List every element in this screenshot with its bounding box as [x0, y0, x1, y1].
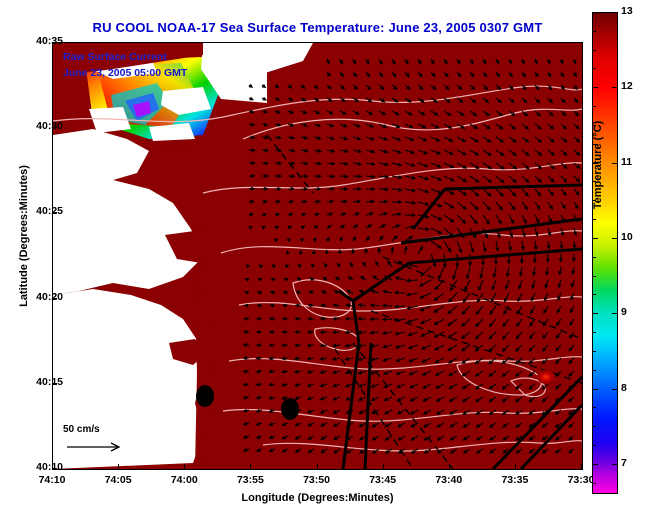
x-tick-label: 73:55	[220, 474, 280, 486]
x-tick-label: 73:40	[419, 474, 479, 486]
colorbar-tick-label: 9	[621, 306, 627, 318]
station-marker-2[interactable]	[281, 398, 299, 420]
colorbar-tick-mark	[612, 12, 618, 13]
colorbar-minor-tick	[592, 445, 596, 446]
colorbar-minor-tick	[592, 426, 596, 427]
colorbar-minor-tick	[592, 483, 596, 484]
x-tick-label: 73:35	[485, 474, 545, 486]
colorbar-minor-tick	[592, 370, 596, 371]
x-tick-label: 73:50	[287, 474, 347, 486]
colorbar-minor-tick	[592, 407, 596, 408]
x-tick-mark	[449, 464, 450, 469]
x-tick-mark	[52, 464, 53, 469]
colorbar-label: Temperature (°C)	[592, 85, 604, 245]
warm-anomaly-spot	[537, 370, 555, 384]
colorbar-tick-label: 7	[621, 457, 627, 469]
colorbar-tick-label: 8	[621, 382, 627, 394]
annotation-line-1: Raw Surface Current	[63, 51, 167, 63]
station-markers[interactable]	[196, 385, 299, 420]
x-tick-mark	[250, 464, 251, 469]
y-tick-label: 40:30	[17, 120, 63, 132]
colorbar-minor-tick	[592, 257, 596, 258]
y-axis-label: Latitude (Degrees:Minutes)	[18, 136, 30, 336]
colorbar-tick-mark	[592, 12, 598, 13]
x-tick-label: 74:00	[154, 474, 214, 486]
figure-title: RU COOL NOAA-17 Sea Surface Temperature:…	[52, 20, 583, 35]
x-tick-mark	[317, 464, 318, 469]
colorbar-tick-mark	[612, 238, 618, 239]
station-marker-1[interactable]	[196, 385, 214, 407]
x-tick-label: 73:45	[353, 474, 413, 486]
x-tick-mark	[515, 464, 516, 469]
sst-figure: RU COOL NOAA-17 Sea Surface Temperature:…	[0, 0, 651, 515]
quiver-key-label: 50 cm/s	[63, 424, 100, 435]
colorbar-tick-mark	[612, 464, 618, 465]
colorbar-tick-mark	[612, 389, 618, 390]
y-tick-label: 40:15	[17, 376, 63, 388]
y-tick-mark	[52, 42, 57, 43]
colorbar-minor-tick	[592, 332, 596, 333]
colorbar-tick-label: 12	[621, 80, 633, 92]
x-tick-mark	[383, 464, 384, 469]
x-tick-mark	[118, 464, 119, 469]
x-tick-mark	[581, 464, 582, 469]
colorbar-tick-mark	[612, 87, 618, 88]
colorbar-minor-tick	[592, 313, 596, 314]
colorbar-minor-tick	[592, 31, 596, 32]
colorbar-tick-mark	[612, 313, 618, 314]
colorbar-tick-mark	[612, 163, 618, 164]
x-axis-label: Longitude (Degrees:Minutes)	[52, 492, 583, 504]
y-tick-mark	[52, 127, 57, 128]
y-tick-label: 40:35	[17, 35, 63, 47]
colorbar-minor-tick	[592, 276, 596, 277]
annotation-line-2: June 23, 2005 05:00 GMT	[63, 67, 187, 79]
colorbar-minor-tick	[592, 389, 596, 390]
x-tick-label: 74:05	[88, 474, 148, 486]
y-tick-mark	[52, 298, 57, 299]
map-overlay	[53, 43, 582, 469]
colorbar-minor-tick	[592, 464, 596, 465]
map-plot-area[interactable]: Raw Surface Current June 23, 2005 05:00 …	[52, 42, 583, 470]
x-tick-mark	[184, 464, 185, 469]
colorbar-tick-label: 10	[621, 231, 633, 243]
colorbar-minor-tick	[592, 50, 596, 51]
colorbar-minor-tick	[592, 294, 596, 295]
colorbar-tick-label: 13	[621, 5, 633, 17]
colorbar-minor-tick	[592, 68, 596, 69]
colorbar-minor-tick	[592, 351, 596, 352]
y-tick-label: 40:10	[17, 461, 63, 473]
y-tick-mark	[52, 383, 57, 384]
colorbar-tick-label: 11	[621, 156, 632, 168]
y-tick-mark	[52, 212, 57, 213]
x-tick-label: 74:10	[22, 474, 82, 486]
